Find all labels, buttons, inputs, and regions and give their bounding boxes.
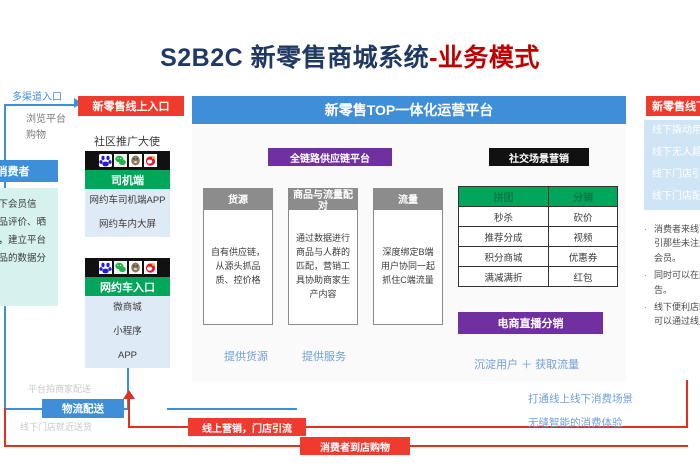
page-title: S2B2C 新零售商城系统-业务模式 — [0, 38, 700, 74]
ride-item-0[interactable]: 微商城 — [85, 296, 170, 320]
table-cell-1-0[interactable]: 推荐分成 — [459, 227, 549, 247]
multi-channel-entry-label: 多渠道入口 — [12, 88, 62, 103]
offline-item-3[interactable]: 线下门店配送 — [644, 186, 700, 208]
logistics-badge: 物流配送 — [42, 399, 124, 418]
offline-note-2: · 线下便利店的促销活动也可以通过线上商城联动。 — [644, 300, 700, 329]
table-row: 秒杀 砍价 — [459, 207, 618, 227]
wechat-icon — [114, 154, 127, 167]
weibo-icon — [144, 154, 157, 167]
entry-arrow-line — [4, 104, 78, 106]
online-marketing-badge-label: 线上营销，门店引流 — [202, 420, 292, 435]
red-vertical-left — [128, 398, 130, 428]
diagram-canvas: S2B2C 新零售商城系统-业务模式 多渠道入口 浏览平台 购物 消费者 打通线… — [0, 0, 700, 470]
footer-service-label: 提供服务 — [302, 348, 346, 364]
baidu-icon — [99, 154, 112, 167]
table-cell-0-0[interactable]: 秒杀 — [459, 207, 549, 227]
table-cell-3-0[interactable]: 满减满折 — [459, 267, 549, 287]
table-cell-2-1[interactable]: 优惠券 — [548, 247, 617, 267]
logistics-line-right — [167, 408, 297, 410]
supply-column-1-body: 通过数据进行商品与人群的匹配，营销工具协助商家生产内容 — [288, 210, 358, 325]
online-entry-header-label: 新零售线上入口 — [93, 98, 170, 114]
ride-group-body: 微商城 小程序 APP — [85, 296, 170, 368]
qq-icon — [129, 154, 142, 167]
red-vertical-right — [686, 380, 688, 428]
ride-group-header-label: 网约车入口 — [100, 279, 155, 295]
platform-header: 新零售TOP一体化运营平台 — [192, 96, 626, 124]
bottom-note-right-2: 无缝智能的消费体验 — [528, 415, 623, 430]
social-marketing-badge-label: 社交场景营销 — [509, 150, 569, 165]
supply-column-0-body-text: 自有供应链，从源头抓品质、控价格 — [209, 246, 267, 288]
offline-item-2[interactable]: 线下门店引流 — [644, 164, 700, 186]
consumer-store-badge-label: 消费者到店购物 — [320, 439, 390, 454]
supply-column-1-head: 商品与流量配对 — [288, 188, 358, 210]
browse-label-line1: 浏览平台 — [26, 110, 66, 125]
offline-note-1: · 同时可以在门店内打广告。 — [644, 268, 700, 297]
table-cell-2-0[interactable]: 积分商城 — [459, 247, 549, 267]
offline-note-2-text: 线下便利店的促销活动也可以通过线上商城联动。 — [654, 302, 700, 326]
consumer-store-badge: 消费者到店购物 — [300, 437, 410, 455]
weibo-icon-2 — [144, 261, 157, 274]
browse-label-line2: 购物 — [26, 126, 46, 141]
driver-item-0[interactable]: 网约车司机端APP — [85, 189, 170, 213]
supply-column-0-body: 自有供应链，从源头抓品质、控价格 — [203, 210, 273, 325]
live-commerce-footer: 沉淀用户 ＋ 获取流量 — [474, 356, 579, 372]
offline-note-0-text: 消费者来线下门店，可指引那些未注册的成为平台会员。 — [654, 224, 700, 263]
driver-group-header[interactable]: 司机端 — [85, 170, 170, 189]
social-marketing-badge: 社交场景营销 — [489, 148, 589, 166]
table-header-0: 拼团 — [459, 187, 549, 207]
supply-chain-badge: 全链路供应链平台 — [268, 148, 392, 166]
offline-note-1-text: 同时可以在门店内打广告。 — [654, 270, 700, 294]
logistics-badge-label: 物流配送 — [62, 401, 104, 416]
live-commerce-badge: 电商直播分销 — [458, 312, 603, 334]
offline-notes: · 消费者来线下门店，可指引那些未注册的成为平台会员。 · 同时可以在门店内打广… — [644, 222, 700, 332]
table-row: 积分商城 优惠券 — [459, 247, 618, 267]
offline-entry-header-label: 新零售线下入口 — [652, 98, 700, 114]
supply-column-1-body-text: 通过数据进行商品与人群的匹配，营销工具协助商家生产内容 — [294, 232, 352, 302]
supply-column-2-body-text: 深度绑定B端用户协同一起抓住C端流量 — [379, 246, 437, 288]
marketing-table: 拼团 分销 秒杀 砍价 推荐分成 视频 积分商城 优惠券 满减满折 红包 — [458, 186, 618, 280]
table-cell-0-1[interactable]: 砍价 — [548, 207, 617, 227]
offline-note-0: · 消费者来线下门店，可指引那些未注册的成为平台会员。 — [644, 222, 700, 265]
consumer-badge: 消费者 — [0, 160, 58, 182]
live-commerce-badge-label: 电商直播分销 — [498, 315, 564, 331]
footer-supply-label: 提供货源 — [224, 348, 268, 364]
logistics-note-bottom: 线下门店就近送货 — [20, 420, 92, 433]
app-icon-strip-bottom — [85, 258, 170, 277]
supply-column-0-head: 货源 — [203, 188, 273, 210]
bullet-icon: · — [644, 268, 647, 282]
bullet-icon: · — [644, 222, 647, 236]
driver-group-header-label: 司机端 — [111, 172, 144, 188]
page-title-part2: -业务模式 — [429, 44, 540, 72]
bottom-note-right-1: 打通线上线下消费场景 — [528, 391, 633, 406]
table-cell-3-1[interactable]: 红包 — [548, 267, 617, 287]
marketing-table-grid: 拼团 分销 秒杀 砍价 推荐分成 视频 积分商城 优惠券 满减满折 红包 — [458, 186, 618, 287]
driver-group-body: 网约车司机端APP 网约车内大屏 — [85, 189, 170, 237]
consumer-note-box: 打通线下会员信息，商品评价、晒单数据，建立平台推荐商品的数据分析 — [0, 188, 58, 306]
driver-item-1[interactable]: 网约车内大屏 — [85, 213, 170, 237]
supply-chain-badge-label: 全链路供应链平台 — [290, 150, 370, 165]
platform-header-label: 新零售TOP一体化运营平台 — [325, 100, 494, 120]
page-title-part1: S2B2C 新零售商城系统 — [160, 44, 429, 72]
logistics-note-top: 平台拍商家配送 — [28, 382, 91, 395]
app-icon-strip-top — [85, 151, 170, 170]
wechat-icon-2 — [114, 261, 127, 274]
offline-item-0[interactable]: 线下撬动用户 — [644, 120, 700, 142]
consumer-note-text: 打通线下会员信息，商品评价、晒单数据，建立平台推荐商品的数据分析 — [0, 196, 54, 286]
ride-item-2[interactable]: APP — [85, 344, 170, 368]
red-vertical-far-left — [4, 408, 6, 446]
table-row: 推荐分成 视频 — [459, 227, 618, 247]
baidu-icon-2 — [99, 261, 112, 274]
table-header-1: 分销 — [548, 187, 617, 207]
ride-item-1[interactable]: 小程序 — [85, 320, 170, 344]
ride-group-header[interactable]: 网约车入口 — [85, 277, 170, 296]
consumer-badge-label: 消费者 — [0, 163, 30, 179]
table-row: 满减满折 红包 — [459, 267, 618, 287]
ambassador-label: 社区推广大使 — [94, 133, 160, 149]
bullet-icon: · — [644, 300, 647, 314]
supply-column-2-body: 深度绑定B端用户协同一起抓住C端流量 — [373, 210, 443, 325]
offline-entry-body: 线下撬动用户 线下无人超市 线下门店引流 线下门店配送 — [644, 120, 700, 210]
offline-item-1[interactable]: 线下无人超市 — [644, 142, 700, 164]
qq-icon-2 — [129, 261, 142, 274]
offline-entry-header[interactable]: 新零售线下入口 — [646, 96, 700, 116]
online-marketing-badge: 线上营销，门店引流 — [188, 418, 306, 436]
table-cell-1-1[interactable]: 视频 — [548, 227, 617, 247]
online-entry-header[interactable]: 新零售线上入口 — [78, 96, 184, 116]
supply-column-2-head: 流量 — [373, 188, 443, 210]
red-arrow-up — [123, 390, 135, 399]
table-header-row: 拼团 分销 — [459, 187, 618, 207]
